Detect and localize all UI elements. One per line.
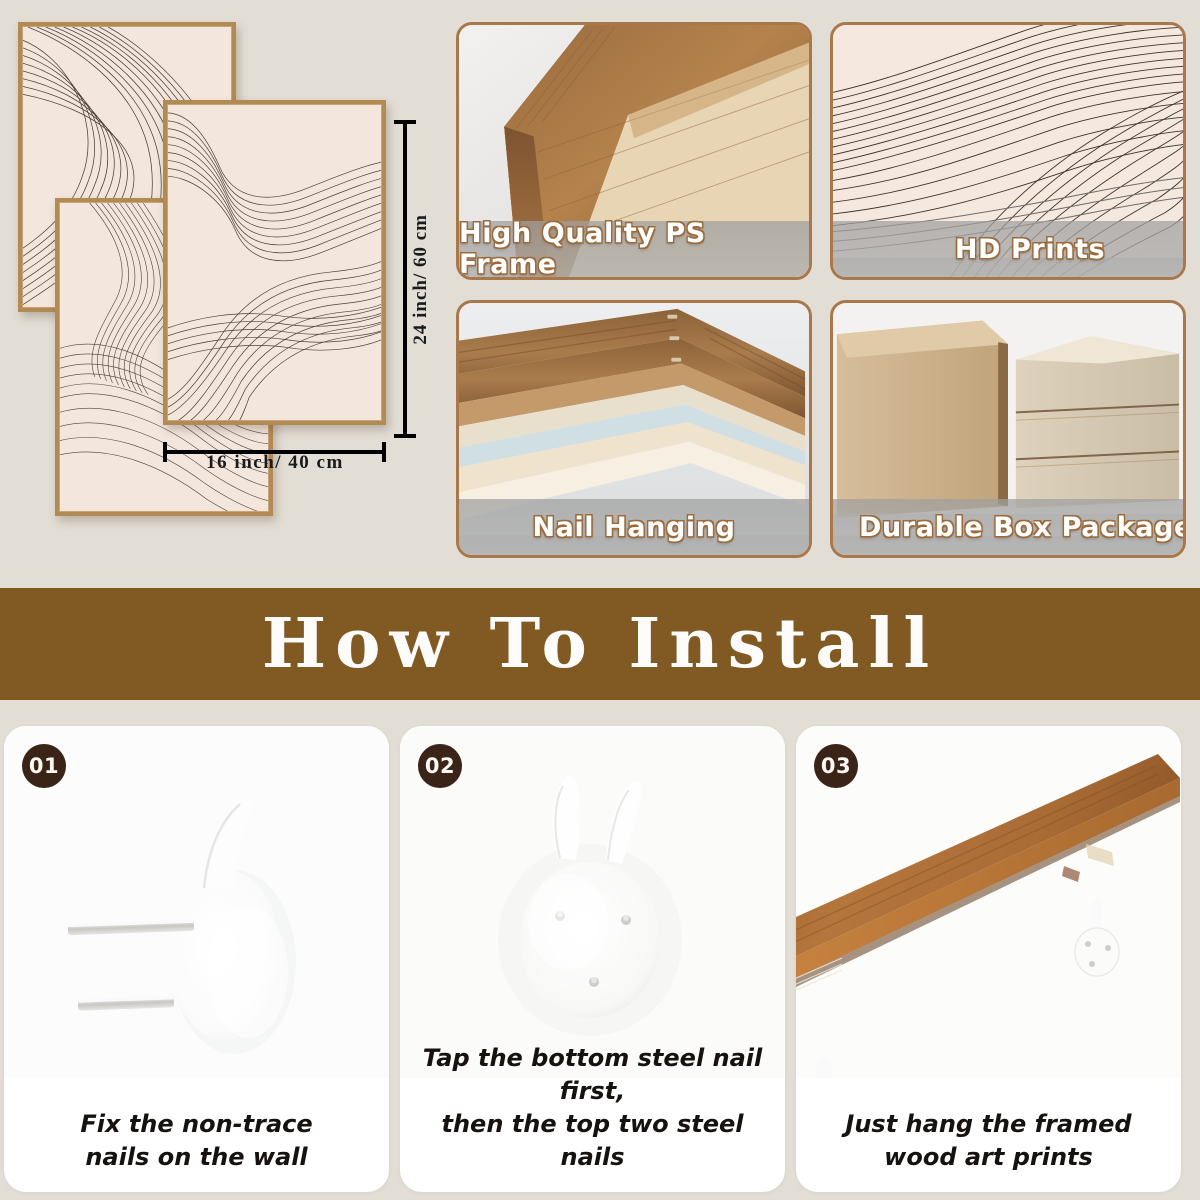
height-dimension-text: 24 inch/ 60 cm: [410, 214, 432, 345]
step-badge-2: 02: [418, 744, 462, 788]
step-badge-3: 03: [814, 744, 858, 788]
step-caption-line1-3: Just hang the framed: [845, 1110, 1131, 1138]
step-number-1: 01: [29, 754, 59, 778]
step-caption-line1-1: Fix the non-trace: [80, 1110, 312, 1138]
feature-label-box: Durable Box Package: [859, 512, 1186, 543]
feature-label-frame: High Quality PS Frame: [459, 218, 809, 280]
product-overview-section: 24 inch/ 60 cm 16 inch/ 40 cm: [0, 0, 1200, 580]
feature-card-box: Durable Box Package: [830, 300, 1186, 558]
feature-label-prints: HD Prints: [955, 234, 1105, 265]
step-caption-line1-2: Tap the bottom steel nail first,: [423, 1044, 763, 1105]
step-caption-line2-1: nails on the wall: [18, 1141, 375, 1174]
step-number-2: 02: [425, 754, 455, 778]
feature-caption-box: Durable Box Package: [833, 499, 1183, 555]
how-to-install-banner: How To Install: [0, 588, 1200, 700]
feature-card-frame: High Quality PS Frame: [456, 22, 812, 280]
install-step-card-2: 02: [400, 726, 785, 1192]
wavy-line-art-icon: [168, 105, 381, 420]
install-step-card-1: 01: [4, 726, 389, 1192]
feature-card-prints: HD Prints: [830, 22, 1186, 280]
step-caption-line2-3: wood art prints: [810, 1141, 1167, 1174]
feature-caption-prints: HD Prints: [833, 221, 1183, 277]
framed-print-main: [163, 100, 386, 425]
feature-caption-nail: Nail Hanging: [459, 499, 809, 555]
feature-caption-frame: High Quality PS Frame: [459, 221, 809, 277]
step-badge-1: 01: [22, 744, 66, 788]
install-step-caption-2: Tap the bottom steel nail first, then th…: [400, 1042, 785, 1174]
step-caption-line2-2: then the top two steel nails: [414, 1108, 771, 1174]
install-step-caption-3: Just hang the framed wood art prints: [796, 1108, 1181, 1174]
install-step-caption-1: Fix the non-trace nails on the wall: [4, 1108, 389, 1174]
print-artwork-main: [167, 104, 382, 421]
install-steps-section: 01: [0, 726, 1200, 1200]
poster-dimension-panel: 24 inch/ 60 cm 16 inch/ 40 cm: [0, 0, 440, 580]
feature-label-nail: Nail Hanging: [532, 512, 735, 543]
feature-card-nail: Nail Hanging: [456, 300, 812, 558]
height-dimension-label: 24 inch/ 60 cm: [406, 120, 436, 438]
width-dimension-label: 16 inch/ 40 cm: [150, 452, 400, 474]
banner-title: How To Install: [262, 604, 938, 684]
install-step-card-3: 03: [796, 726, 1181, 1192]
step-number-3: 03: [821, 754, 851, 778]
